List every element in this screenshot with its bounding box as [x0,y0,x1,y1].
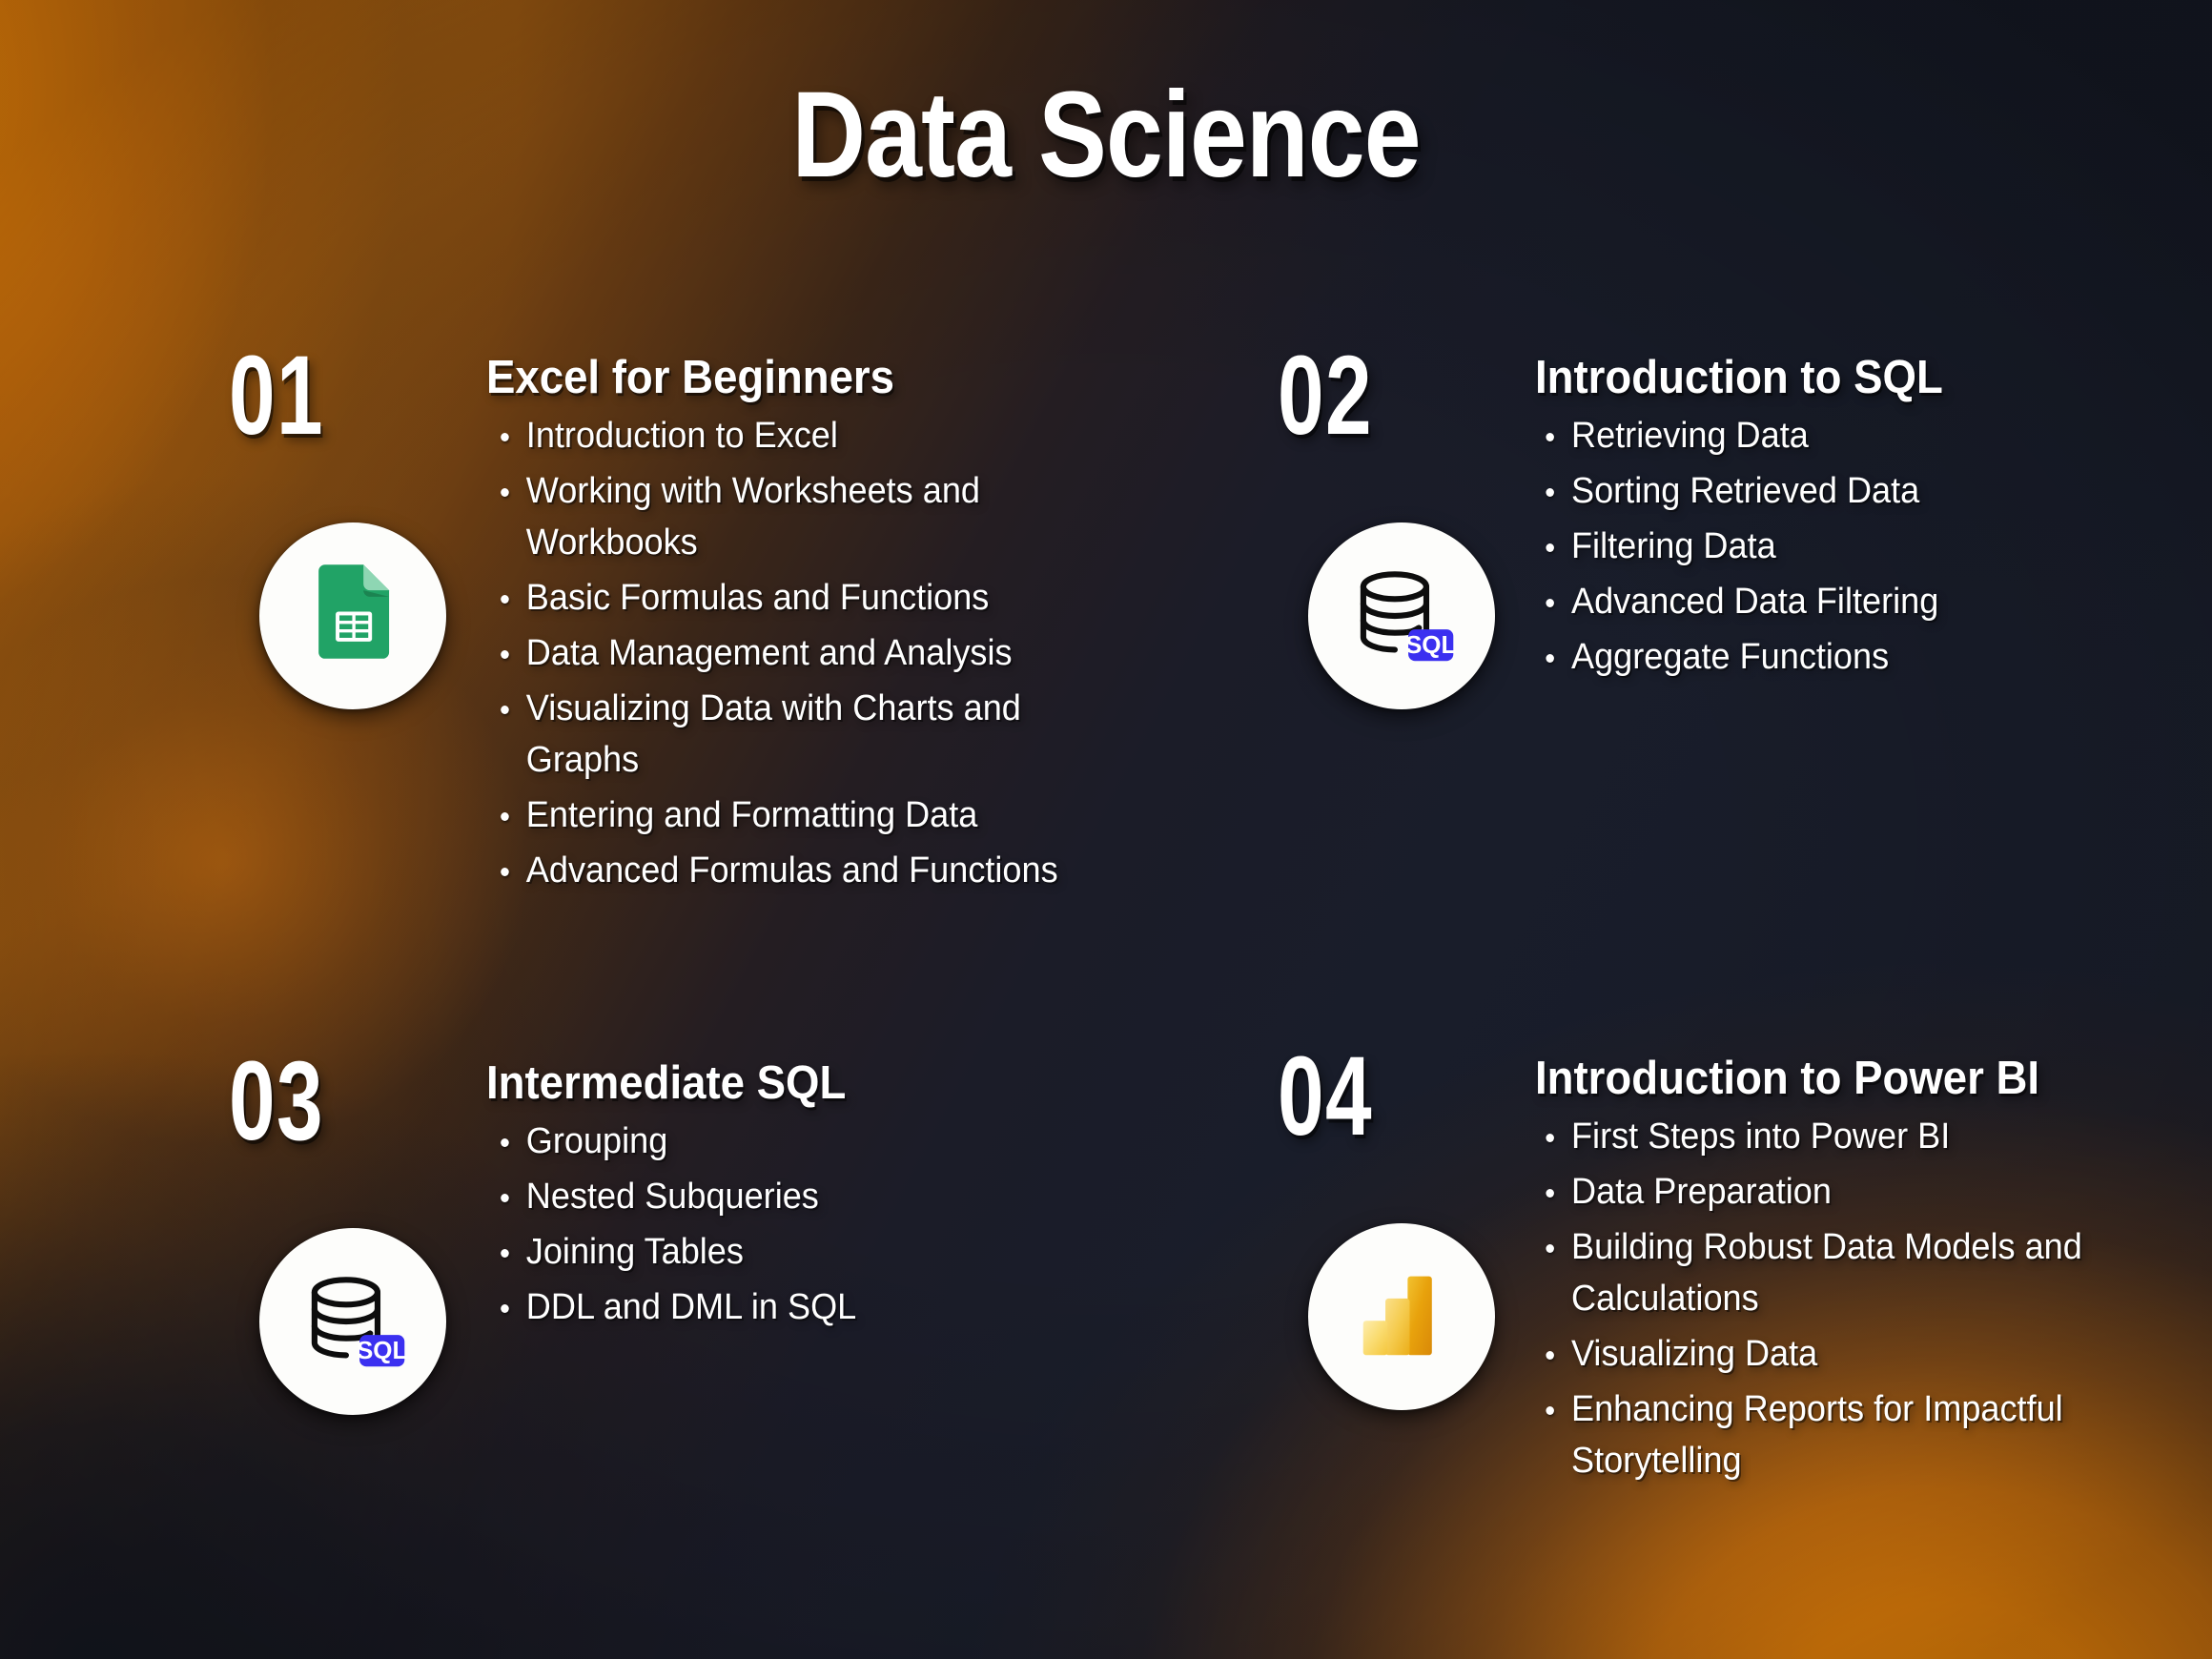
section-list-01: Introduction to Excel Working with Works… [486,411,1125,897]
list-item: Joining Tables [486,1227,1094,1279]
section-list-04: First Steps into Power BI Data Preparati… [1535,1112,2193,1487]
list-item: Nested Subqueries [486,1172,1094,1223]
list-item: Advanced Formulas and Functions [486,846,1094,897]
section-heading-01: Excel for Beginners [486,353,1080,403]
list-item: Filtering Data [1535,522,2142,573]
list-item: Advanced Data Filtering [1535,577,2142,628]
list-item: Entering and Formatting Data [486,790,1094,842]
section-number-02: 02 [1278,339,1373,452]
section-heading-03: Intermediate SQL [486,1058,1080,1109]
sql-database-icon: SQL [259,1228,446,1415]
list-item: Introduction to Excel [486,411,1094,462]
section-body-02: Introduction to SQL Retrieving Data Sort… [1535,353,2174,687]
section-body-03: Intermediate SQL Grouping Nested Subquer… [486,1058,1125,1338]
list-item: Data Management and Analysis [486,628,1094,680]
list-item: Enhancing Reports for Impactful Storytel… [1535,1384,2161,1487]
section-body-01: Excel for Beginners Introduction to Exce… [486,353,1125,900]
section-number-01: 01 [229,339,324,452]
list-item: Basic Formulas and Functions [486,573,1094,625]
list-item: Building Robust Data Models and Calculat… [1535,1222,2161,1325]
sql-badge-label: SQL [1405,630,1456,659]
list-item: Grouping [486,1116,1094,1168]
list-item: Retrieving Data [1535,411,2142,462]
section-heading-04: Introduction to Power BI [1535,1054,2147,1104]
list-item: Aggregate Functions [1535,632,2142,684]
sql-badge-label: SQL [357,1336,407,1364]
sql-database-icon: SQL [1308,522,1495,709]
page-title: Data Science [177,74,2036,196]
power-bi-icon [1308,1223,1495,1410]
section-heading-02: Introduction to SQL [1535,353,2129,403]
list-item: Visualizing Data [1535,1329,2161,1381]
list-item: DDL and DML in SQL [486,1282,1094,1334]
section-list-03: Grouping Nested Subqueries Joining Table… [486,1116,1125,1334]
section-list-02: Retrieving Data Sorting Retrieved Data F… [1535,411,2174,684]
list-item: Sorting Retrieved Data [1535,466,2142,518]
list-item: Visualizing Data with Charts and Graphs [486,684,1094,787]
list-item: Data Preparation [1535,1167,2161,1219]
section-number-04: 04 [1278,1040,1373,1153]
infographic-poster: Data Science 01 Excel for Beginners Intr… [0,0,2212,1659]
section-body-04: Introduction to Power BI First Steps int… [1535,1054,2193,1491]
section-number-03: 03 [229,1045,324,1157]
list-item: First Steps into Power BI [1535,1112,2161,1163]
google-sheets-icon [259,522,446,709]
list-item: Working with Worksheets and Workbooks [486,466,1094,569]
